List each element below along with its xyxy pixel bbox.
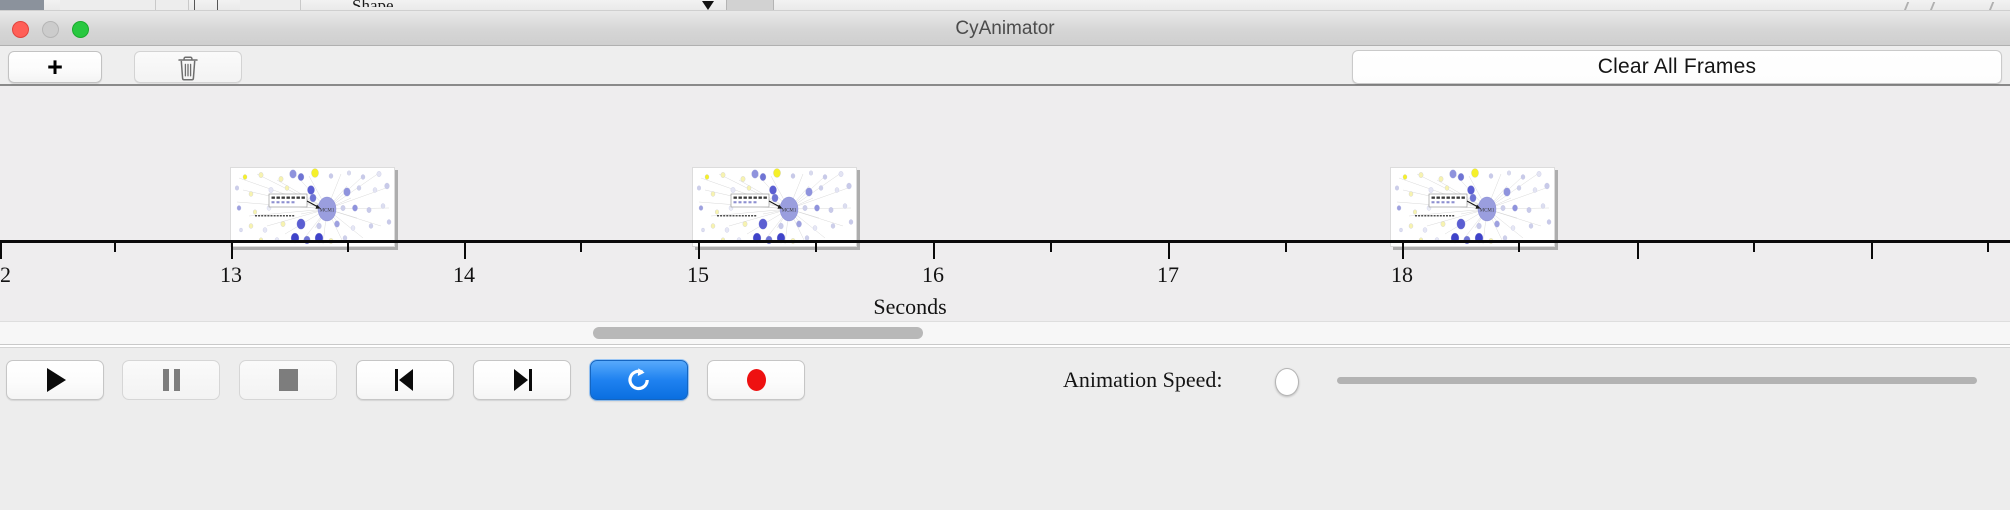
record-button[interactable]	[707, 360, 805, 400]
axis-tick	[1402, 243, 1404, 259]
axis-tick	[580, 243, 582, 252]
skip-to-start-button[interactable]	[356, 360, 454, 400]
axis-tick	[114, 243, 116, 252]
skip-back-icon	[393, 369, 417, 391]
skip-forward-icon	[510, 369, 534, 391]
horizontal-scrollbar-thumb[interactable]	[593, 327, 923, 339]
animation-speed-slider-track[interactable]	[1337, 377, 1977, 384]
clear-all-frames-button[interactable]: Clear All Frames	[1352, 50, 2002, 84]
axis-tick-label: 16	[922, 262, 944, 288]
axis-tick	[464, 243, 466, 259]
timeline-axis-line	[0, 240, 2010, 243]
stop-icon	[279, 369, 298, 391]
axis-tick	[1871, 243, 1873, 259]
axis-tick	[815, 243, 817, 252]
axis-tick	[1285, 243, 1287, 252]
horizontal-scrollbar[interactable]	[0, 321, 2010, 345]
pause-button	[122, 360, 220, 400]
add-frame-button[interactable]: +	[8, 51, 102, 83]
axis-tick	[1987, 243, 1989, 252]
axis-caption: Seconds	[873, 294, 946, 320]
play-button[interactable]	[6, 360, 104, 400]
play-icon	[47, 368, 66, 392]
axis-tick	[1753, 243, 1755, 252]
axis-tick-label: 18	[1391, 262, 1413, 288]
network-thumbnail-image: MCM1	[231, 168, 394, 246]
loop-button[interactable]	[590, 360, 688, 400]
trash-icon	[176, 54, 200, 81]
network-thumbnail-image: MCM1	[1391, 168, 1554, 246]
loop-icon	[625, 366, 653, 394]
axis-tick-label: 13	[220, 262, 242, 288]
svg-text:MCM1: MCM1	[1480, 208, 1495, 213]
background-window-strip: | | Shape	[0, 0, 2010, 11]
axis-tick-label: 15	[687, 262, 709, 288]
timeline-panel[interactable]: MCM1MCM1MCM1	[0, 86, 2010, 321]
axis-tick	[1518, 243, 1520, 252]
network-thumbnail-image: MCM1	[693, 168, 856, 246]
record-icon	[747, 369, 766, 391]
frame-thumbnail-3[interactable]: MCM1	[1390, 167, 1555, 247]
axis-tick-label: 14	[453, 262, 475, 288]
axis-tick-label: 17	[1157, 262, 1179, 288]
svg-text:MCM1: MCM1	[782, 208, 797, 213]
frame-thumbnail-2[interactable]: MCM1	[692, 167, 857, 247]
axis-tick	[231, 243, 233, 259]
axis-tick	[1050, 243, 1052, 252]
svg-text:MCM1: MCM1	[320, 208, 335, 213]
axis-tick	[0, 243, 2, 259]
window-title: CyAnimator	[0, 11, 2010, 46]
axis-tick-label: 12	[0, 262, 11, 288]
skip-to-end-button[interactable]	[473, 360, 571, 400]
background-caret-icon	[702, 1, 714, 10]
axis-tick	[698, 243, 700, 259]
frame-thumbnail-1[interactable]: MCM1	[230, 167, 395, 247]
axis-tick	[347, 243, 349, 252]
playback-toolbar: Animation Speed:	[0, 347, 2010, 510]
delete-frame-button[interactable]	[134, 51, 242, 83]
clear-all-frames-label: Clear All Frames	[1598, 55, 1756, 79]
stop-button	[239, 360, 337, 400]
pause-icon	[163, 369, 180, 391]
axis-tick	[933, 243, 935, 259]
background-window-label: Shape	[352, 0, 394, 7]
animation-speed-label: Animation Speed:	[1063, 360, 1222, 400]
title-bar: CyAnimator	[0, 11, 2010, 46]
axis-tick	[1637, 243, 1639, 259]
animation-speed-slider-knob[interactable]	[1275, 368, 1299, 396]
axis-tick	[1168, 243, 1170, 259]
plus-icon: +	[47, 54, 63, 81]
cyanimator-window: | | Shape CyAnimator + Clear All Fram	[0, 0, 2010, 510]
frame-toolbar: + Clear All Frames	[0, 46, 2010, 86]
